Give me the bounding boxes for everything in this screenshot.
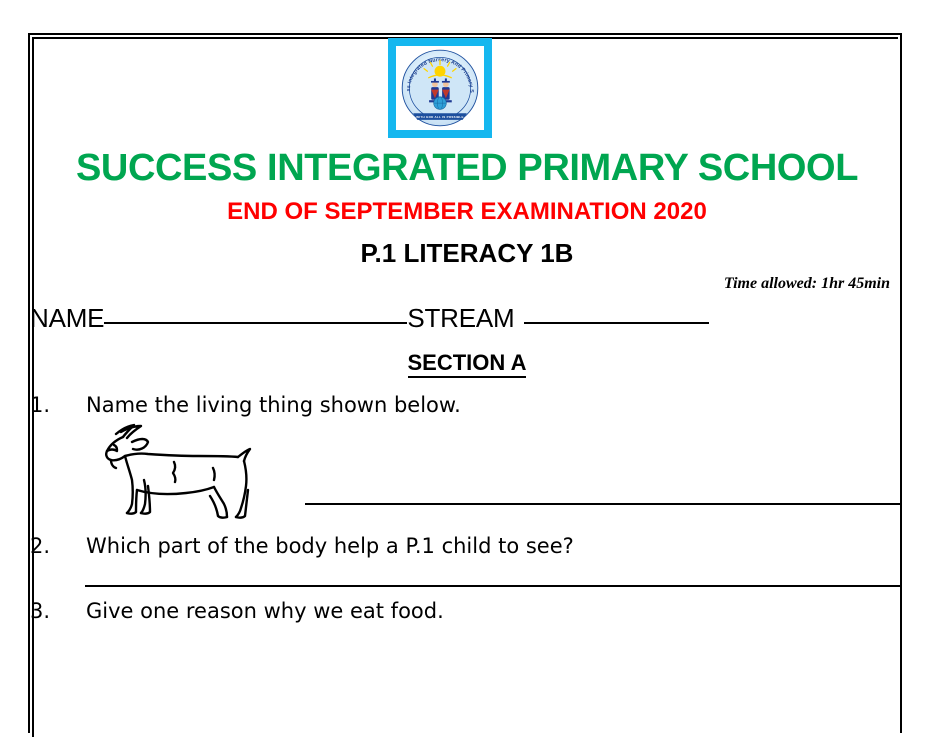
question-1-answer-line[interactable] xyxy=(305,503,900,505)
question-2-answer-line[interactable] xyxy=(85,585,900,587)
question-1: 1.Name the living thing shown below. xyxy=(30,392,900,418)
section-a-label: SECTION A xyxy=(408,350,527,378)
school-crest-icon: Success Integrated Nursery And Primary S… xyxy=(396,46,484,130)
subject-heading: P.1 LITERACY 1B xyxy=(34,238,900,268)
exam-page: Success Integrated Nursery And Primary S… xyxy=(0,0,938,628)
question-3-number: 3. xyxy=(30,598,86,624)
section-a-heading: SECTION A xyxy=(34,350,900,376)
question-1-number: 1. xyxy=(30,392,86,418)
school-name-heading: SUCCESS INTEGRATED PRIMARY SCHOOL xyxy=(34,146,900,190)
stream-input-line[interactable] xyxy=(524,321,709,324)
logo-frame: Success Integrated Nursery And Primary S… xyxy=(388,38,492,138)
goat-illustration xyxy=(88,418,264,520)
question-3: 3.Give one reason why we eat food. xyxy=(30,598,900,624)
page-border-inner xyxy=(32,37,898,737)
name-input-line[interactable] xyxy=(104,321,407,324)
time-allowed-label: Time allowed: 1hr 45min xyxy=(724,275,890,293)
exam-title-heading: END OF SEPTEMBER EXAMINATION 2020 xyxy=(34,198,900,226)
svg-text:WITH GOD ALL IS POSSIBLE: WITH GOD ALL IS POSSIBLE xyxy=(416,115,463,119)
logo-inner: Success Integrated Nursery And Primary S… xyxy=(393,43,487,133)
stream-label: STREAM xyxy=(407,303,514,334)
name-label: NAME xyxy=(30,303,104,334)
name-stream-row: NAME STREAM xyxy=(30,303,900,335)
question-2: 2.Which part of the body help a P.1 chil… xyxy=(30,533,900,559)
question-2-number: 2. xyxy=(30,533,86,559)
question-2-text: Which part of the body help a P.1 child … xyxy=(86,534,574,558)
school-logo: Success Integrated Nursery And Primary S… xyxy=(388,38,492,138)
question-3-text: Give one reason why we eat food. xyxy=(86,599,444,623)
question-1-text: Name the living thing shown below. xyxy=(86,393,461,417)
goat-icon xyxy=(88,418,264,520)
